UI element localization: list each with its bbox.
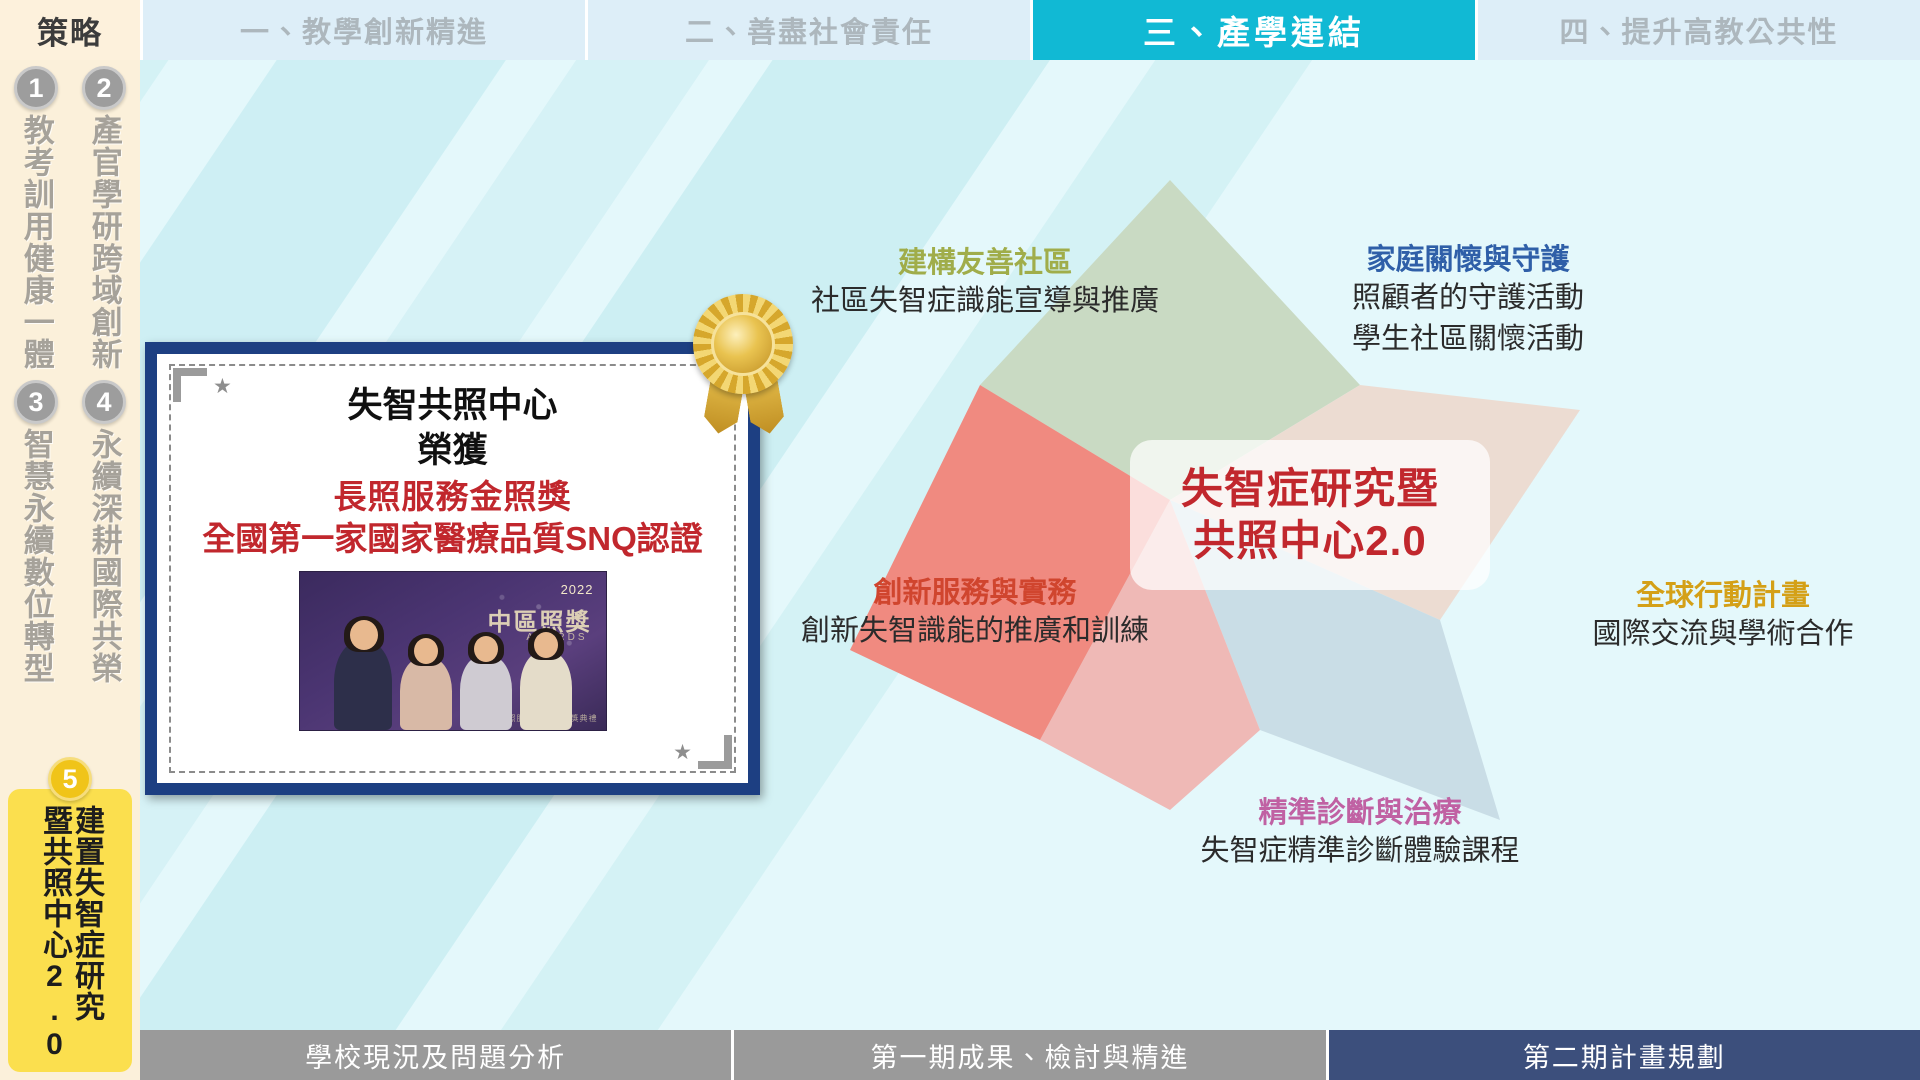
nav-phase-two-plan[interactable]: 第二期計畫規劃 xyxy=(1326,1030,1920,1080)
node-title-diagnosis: 精準診斷與治療 xyxy=(1200,795,1519,831)
strategy-sidebar: 1 教考訓用健康一體 2 產官學研跨域創新 3 智慧永續數位轉型 4 永續深耕國… xyxy=(0,60,140,1080)
certificate-text-block: 失智共照中心 榮獲 長照服務金照獎 全國第一家國家醫療品質SNQ認證 2022 … xyxy=(173,368,732,731)
node-label-family: 家庭關懷與守護 照顧者的守護活動 學生社區關懷活動 xyxy=(1352,242,1584,361)
sidebar-item-2-badge: 2 xyxy=(82,66,126,110)
photo-person-4-head xyxy=(534,632,558,658)
certificate-line-4: 全國第一家國家醫療品質SNQ認證 xyxy=(173,518,732,561)
node-desc-innovation-1: 創新失智識能的推廣和訓練 xyxy=(801,611,1149,652)
tab-teaching-innovation[interactable]: 一、教學創新精進 xyxy=(140,0,585,60)
diagram-center-line-2: 共照中心2.0 xyxy=(1193,515,1426,567)
award-ceremony-photo: 2022 中區照獎 AWARDS 長照服務金照獎頒獎典禮 xyxy=(299,571,607,731)
certificate-frame: ★ ★ 失智共照中心 榮獲 長照服務金照獎 全國第一家國家醫療品質SNQ認證 2… xyxy=(145,342,760,795)
sidebar-item-5-badge: 5 xyxy=(48,757,92,801)
node-desc-community-1: 社區失智症識能宣導與推廣 xyxy=(811,281,1159,322)
node-label-community: 建構友善社區 社區失智症識能宣導與推廣 xyxy=(811,245,1159,322)
sidebar-group-mid: 3 智慧永續數位轉型 4 永續深耕國際共榮 xyxy=(0,374,140,684)
sidebar-item-2-label: 產官學研跨域創新 xyxy=(88,114,120,370)
node-title-family: 家庭關懷與守護 xyxy=(1352,242,1584,278)
node-desc-diagnosis-1: 失智症精準診斷體驗課程 xyxy=(1200,831,1519,872)
section-navigation-bar: 學校現況及問題分析 第一期成果、檢討與精進 第二期計畫規劃 xyxy=(140,1030,1920,1080)
strategy-tabbar: 策略 一、教學創新精進 二、善盡社會責任 三、產學連結 四、提升高教公共性 xyxy=(0,0,1920,60)
sidebar-item-1-label: 教考訓用健康一體 xyxy=(20,114,52,370)
sidebar-item-2[interactable]: 2 產官學研跨域創新 xyxy=(73,66,135,370)
node-desc-global-1: 國際交流與學術合作 xyxy=(1592,614,1853,655)
diagram-center-label: 失智症研究暨 共照中心2.0 xyxy=(1130,440,1490,590)
sidebar-item-1[interactable]: 1 教考訓用健康一體 xyxy=(5,66,67,370)
node-desc-family-1: 照顧者的守護活動 xyxy=(1352,278,1584,319)
nav-phase-one-results[interactable]: 第一期成果、檢討與精進 xyxy=(731,1030,1325,1080)
node-desc-family-2: 學生社區關懷活動 xyxy=(1352,319,1584,360)
star-icon-bottom-right: ★ xyxy=(673,740,692,765)
node-title-global: 全球行動計畫 xyxy=(1592,578,1853,614)
sidebar-item-5[interactable]: 5 建置失智症研究 暨共照中心2.0 xyxy=(8,757,132,1072)
sidebar-group-top: 1 教考訓用健康一體 2 產官學研跨域創新 xyxy=(0,60,140,370)
photo-person-2-head xyxy=(414,638,438,664)
strategy-label: 策略 xyxy=(0,0,140,60)
sidebar-item-5-box: 建置失智症研究 暨共照中心2.0 xyxy=(8,789,132,1072)
slide-canvas: 策略 一、教學創新精進 二、善盡社會責任 三、產學連結 四、提升高教公共性 1 … xyxy=(0,0,1920,1080)
sidebar-item-3-label: 智慧永續數位轉型 xyxy=(20,428,52,684)
sidebar-item-1-badge: 1 xyxy=(14,66,58,110)
sidebar-item-4[interactable]: 4 永續深耕國際共榮 xyxy=(73,380,135,684)
node-label-diagnosis: 精準診斷與治療 失智症精準診斷體驗課程 xyxy=(1200,795,1519,872)
node-label-innovation: 創新服務與實務 創新失智識能的推廣和訓練 xyxy=(801,575,1149,652)
tab-public-higher-education[interactable]: 四、提升高教公共性 xyxy=(1475,0,1920,60)
certificate-line-1: 失智共照中心 xyxy=(173,384,732,429)
sidebar-item-4-badge: 4 xyxy=(82,380,126,424)
sidebar-item-5-badge-holder: 5 xyxy=(8,757,132,801)
photo-person-1-head xyxy=(350,620,378,650)
photo-year-label: 2022 xyxy=(561,582,594,597)
certificate-line-3: 長照服務金照獎 xyxy=(173,476,732,519)
photo-person-3-head xyxy=(474,636,498,662)
certificate-line-2: 榮獲 xyxy=(173,429,732,474)
certificate-corner-bottom-right xyxy=(698,735,732,769)
node-title-innovation: 創新服務與實務 xyxy=(801,575,1149,611)
nav-school-status-analysis[interactable]: 學校現況及問題分析 xyxy=(140,1030,731,1080)
award-certificate[interactable]: ★ ★ 失智共照中心 榮獲 長照服務金照獎 全國第一家國家醫療品質SNQ認證 2… xyxy=(145,330,770,800)
node-title-community: 建構友善社區 xyxy=(811,245,1159,281)
photo-person-2 xyxy=(400,658,452,730)
sidebar-item-5-label-line2: 暨共照中心2.0 xyxy=(39,805,69,1062)
gold-award-seal-icon xyxy=(685,294,803,444)
photo-person-3 xyxy=(460,656,512,730)
sidebar-item-4-label: 永續深耕國際共榮 xyxy=(88,428,120,684)
diagram-center-line-1: 失智症研究暨 xyxy=(1181,463,1439,515)
tab-social-responsibility[interactable]: 二、善盡社會責任 xyxy=(585,0,1030,60)
photo-person-1 xyxy=(334,642,392,730)
sidebar-item-3[interactable]: 3 智慧永續數位轉型 xyxy=(5,380,67,684)
node-label-global: 全球行動計畫 國際交流與學術合作 xyxy=(1592,578,1853,655)
sidebar-item-3-badge: 3 xyxy=(14,380,58,424)
sidebar-item-5-label-line1: 建置失智症研究 xyxy=(71,805,101,1062)
tab-industry-academia-link[interactable]: 三、產學連結 xyxy=(1030,0,1475,60)
photo-person-4 xyxy=(520,652,572,730)
certificate-inner: ★ ★ 失智共照中心 榮獲 長照服務金照獎 全國第一家國家醫療品質SNQ認證 2… xyxy=(157,354,748,783)
seal-inner-disc xyxy=(711,312,775,376)
